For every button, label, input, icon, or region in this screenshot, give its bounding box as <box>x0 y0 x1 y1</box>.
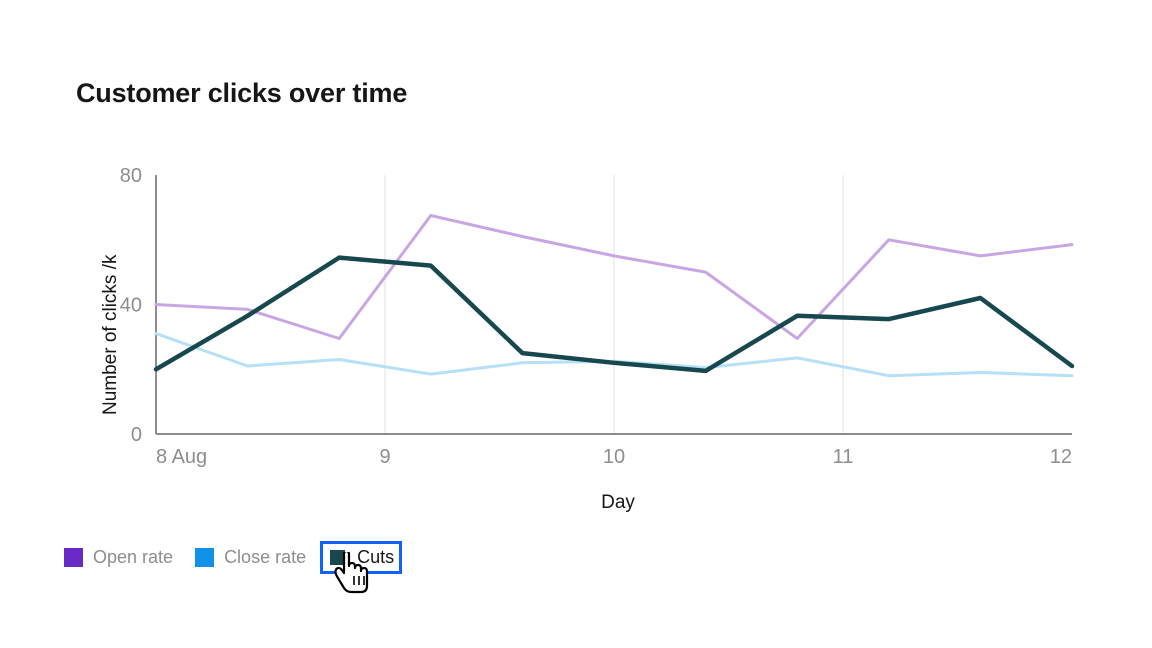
legend-swatch-open-rate <box>64 548 83 567</box>
legend-item-close-rate[interactable]: Close rate <box>189 543 312 572</box>
y-tick-label: 40 <box>120 295 142 317</box>
legend-label-cuts: Cuts <box>357 547 394 568</box>
y-tick-label: 0 <box>131 424 142 446</box>
x-tick-label: 8 Aug <box>156 446 207 468</box>
y-axis-title: Number of clicks /k <box>100 255 122 415</box>
legend-swatch-close-rate <box>195 548 214 567</box>
x-tick-label: 9 <box>379 446 390 468</box>
line-chart-card: Customer clicks over time 040808 Aug9101… <box>0 0 1152 648</box>
legend-item-cuts[interactable]: Cuts <box>322 543 400 572</box>
x-tick-label: 12 <box>1050 446 1072 468</box>
x-tick-label: 10 <box>603 446 625 468</box>
legend-swatch-cuts <box>328 548 347 567</box>
chart-legend: Open rate Close rate Cuts <box>58 543 410 572</box>
legend-item-open-rate[interactable]: Open rate <box>58 543 179 572</box>
x-axis-title: Day <box>42 492 1152 514</box>
legend-label-open-rate: Open rate <box>93 547 173 568</box>
x-tick-label: 11 <box>833 446 854 468</box>
legend-label-close-rate: Close rate <box>224 547 306 568</box>
y-tick-label: 80 <box>120 165 142 187</box>
